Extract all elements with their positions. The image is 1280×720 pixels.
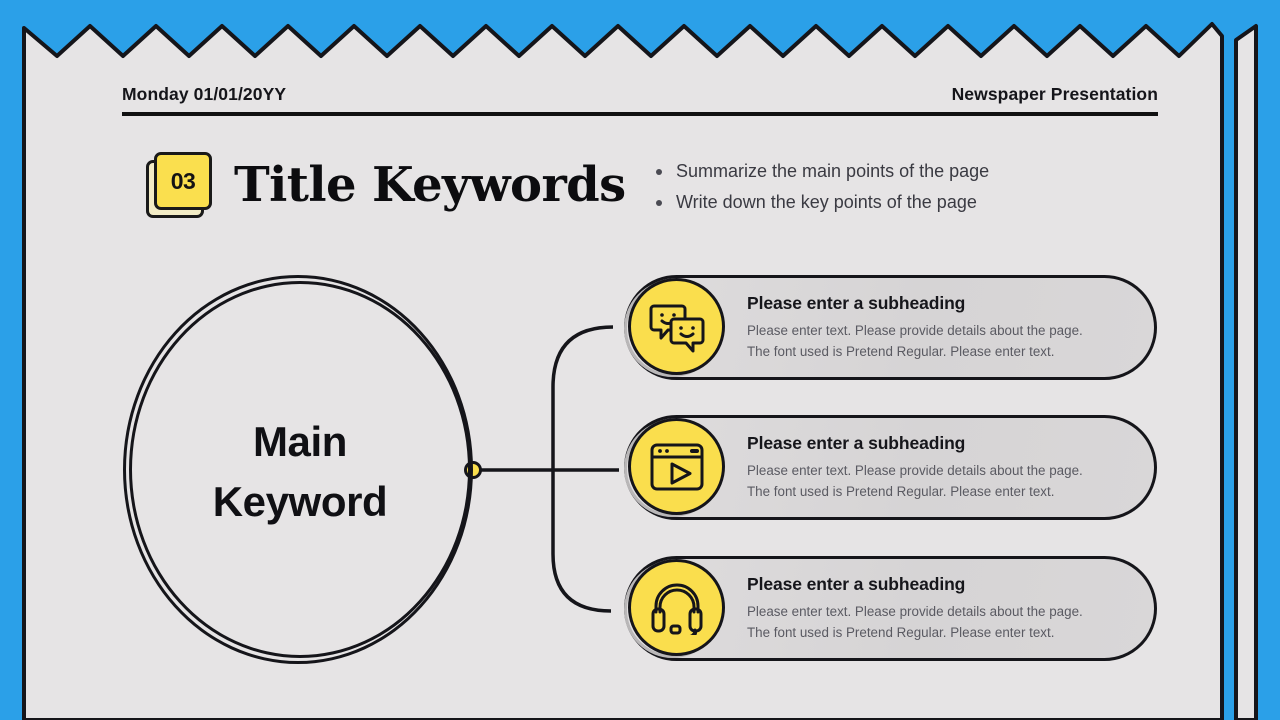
branch-body-3: Please enter text. Please provide detail…	[747, 601, 1147, 644]
branch-body-line-1: Please enter text. Please provide detail…	[747, 601, 1147, 623]
branch-subheading-2: Please enter a subheading	[747, 433, 1147, 454]
branch-subheading-1: Please enter a subheading	[747, 293, 1147, 314]
branch-body-1: Please enter text. Please provide detail…	[747, 320, 1147, 363]
slide-surface: Monday 01/01/20YY Newspaper Presentation…	[26, 22, 1222, 720]
badge-front-square: 03	[154, 152, 212, 210]
bullet-item: Summarize the main points of the page	[652, 156, 1172, 187]
branch-icon-2	[624, 418, 725, 519]
branch-icon-1	[624, 278, 725, 379]
branch-card-2[interactable]: Please enter a subheading Please enter t…	[624, 415, 1157, 520]
center-node-line2: Keyword	[213, 472, 388, 532]
video-window-play-icon	[628, 418, 725, 515]
headset-icon	[628, 559, 725, 656]
branch-subheading-3: Please enter a subheading	[747, 574, 1147, 595]
paper-sheet-back	[1236, 26, 1256, 720]
page-title: Title Keywords	[234, 152, 626, 218]
center-node-circle: Main Keyword	[123, 275, 477, 668]
section-number-badge: 03	[146, 152, 216, 222]
branch-text-1: Please enter a subheading Please enter t…	[747, 293, 1147, 363]
header-presentation-title: Newspaper Presentation	[952, 84, 1158, 105]
title-bullet-list: Summarize the main points of the page Wr…	[652, 156, 1172, 218]
header-date: Monday 01/01/20YY	[122, 84, 286, 105]
branch-card-1[interactable]: Please enter a subheading Please enter t…	[624, 275, 1157, 380]
branch-card-3[interactable]: Please enter a subheading Please enter t…	[624, 556, 1157, 661]
mindmap-diagram: Main Keyword	[26, 227, 1222, 697]
branch-body-line-2: The font used is Pretend Regular. Please…	[747, 481, 1147, 503]
slide-header: Monday 01/01/20YY Newspaper Presentation	[122, 84, 1158, 116]
badge-number: 03	[171, 168, 196, 195]
connector-branch-top	[553, 327, 613, 470]
branch-body-line-2: The font used is Pretend Regular. Please…	[747, 341, 1147, 363]
connector-branch-bottom	[553, 470, 611, 611]
bullet-item: Write down the key points of the page	[652, 187, 1172, 218]
branch-body-line-1: Please enter text. Please provide detail…	[747, 460, 1147, 482]
branch-text-3: Please enter a subheading Please enter t…	[747, 574, 1147, 644]
branch-body-2: Please enter text. Please provide detail…	[747, 460, 1147, 503]
chat-bubbles-icon	[628, 278, 725, 375]
center-node-line1: Main	[253, 412, 347, 472]
center-node-label: Main Keyword	[123, 275, 477, 668]
branch-text-2: Please enter a subheading Please enter t…	[747, 433, 1147, 503]
title-row: 03 Title Keywords Summarize the main poi…	[122, 132, 1182, 232]
branch-icon-3	[624, 559, 725, 660]
branch-body-line-1: Please enter text. Please provide detail…	[747, 320, 1147, 342]
branch-body-line-2: The font used is Pretend Regular. Please…	[747, 622, 1147, 644]
